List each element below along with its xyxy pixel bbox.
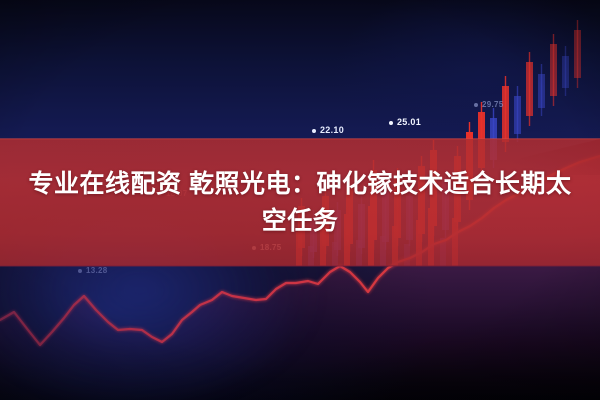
price-label: 22.10 [312, 125, 344, 135]
candle-body [550, 44, 557, 96]
price-label: 25.01 [389, 117, 421, 127]
price-marker-dot [78, 269, 82, 273]
band-bottom-divider [0, 265, 600, 267]
price-label: 13.28 [78, 266, 108, 275]
price-marker-dot [389, 121, 393, 125]
price-label-value: 29.75 [482, 100, 504, 109]
candle-body [562, 56, 569, 88]
candle-body [502, 86, 509, 142]
price-label: 29.75 [474, 100, 504, 109]
candle-body [514, 96, 521, 134]
banner-root: 13.2818.0718.7522.1025.0129.75 专业在线配资 乾照… [0, 0, 600, 400]
candle-body [526, 62, 533, 116]
price-marker-dot [474, 103, 478, 107]
candle-body [538, 74, 545, 108]
price-marker-dot [312, 129, 316, 133]
price-label-value: 22.10 [320, 125, 344, 135]
candle-body [574, 30, 581, 78]
price-label-value: 25.01 [397, 117, 421, 127]
headline-band [0, 139, 600, 266]
price-label-value: 13.28 [86, 266, 108, 275]
